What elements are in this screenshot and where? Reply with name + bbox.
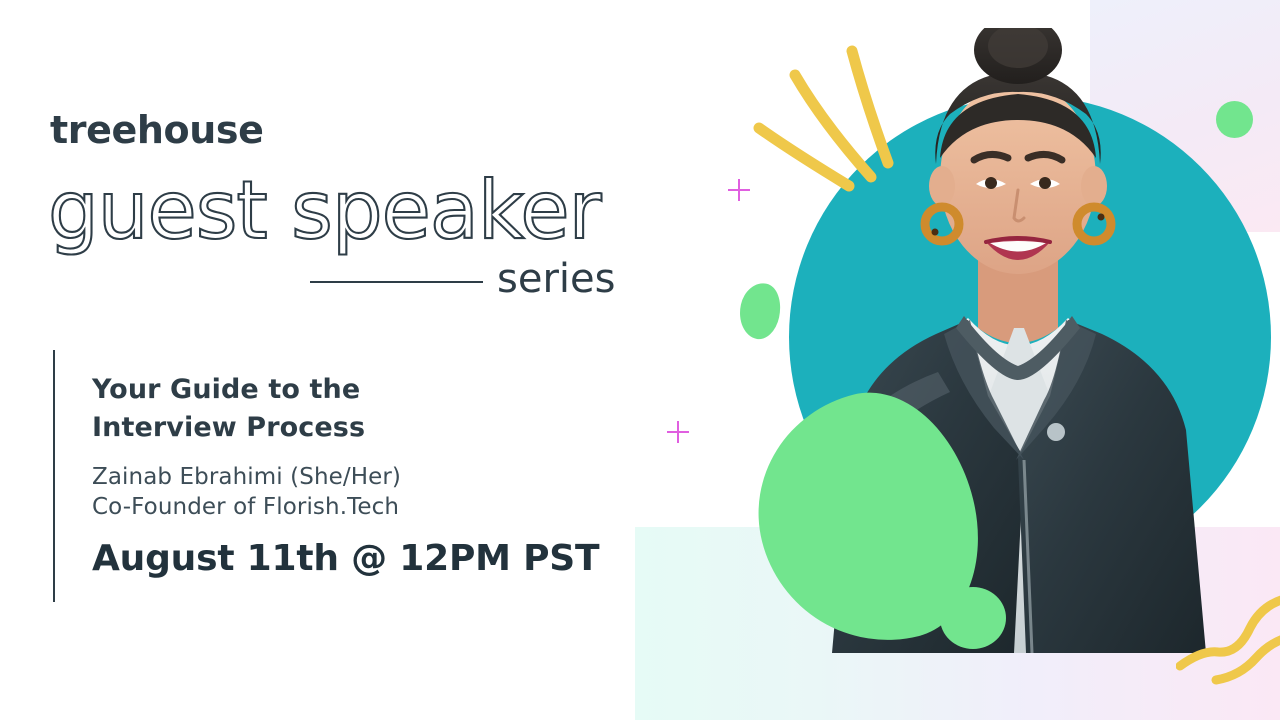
talk-title-line-2: Interview Process bbox=[92, 409, 562, 447]
promo-slide: treehouse guest speaker series Your Guid… bbox=[0, 0, 1280, 720]
green-blob-small-icon bbox=[735, 279, 786, 342]
speaker-role: Co-Founder of Florish.Tech bbox=[92, 492, 399, 523]
plus-mark-icon bbox=[667, 421, 689, 443]
plus-mark-icon bbox=[728, 179, 750, 201]
event-datetime: August 11th @ 12PM PST bbox=[92, 538, 599, 579]
series-divider bbox=[310, 281, 483, 283]
series-label: series bbox=[497, 256, 615, 302]
brand-wordmark: treehouse bbox=[50, 108, 263, 152]
svg-text:guest speaker: guest speaker bbox=[48, 166, 602, 257]
vertical-accent-rule bbox=[53, 350, 55, 602]
headline-outline: guest speaker bbox=[40, 166, 660, 260]
talk-title: Your Guide to the Interview Process bbox=[92, 371, 562, 447]
speaker-name: Zainab Ebrahimi (She/Her) bbox=[92, 462, 401, 493]
green-dot-icon bbox=[940, 587, 1006, 649]
talk-title-line-1: Your Guide to the bbox=[92, 371, 562, 409]
green-circle-icon bbox=[1216, 101, 1253, 138]
